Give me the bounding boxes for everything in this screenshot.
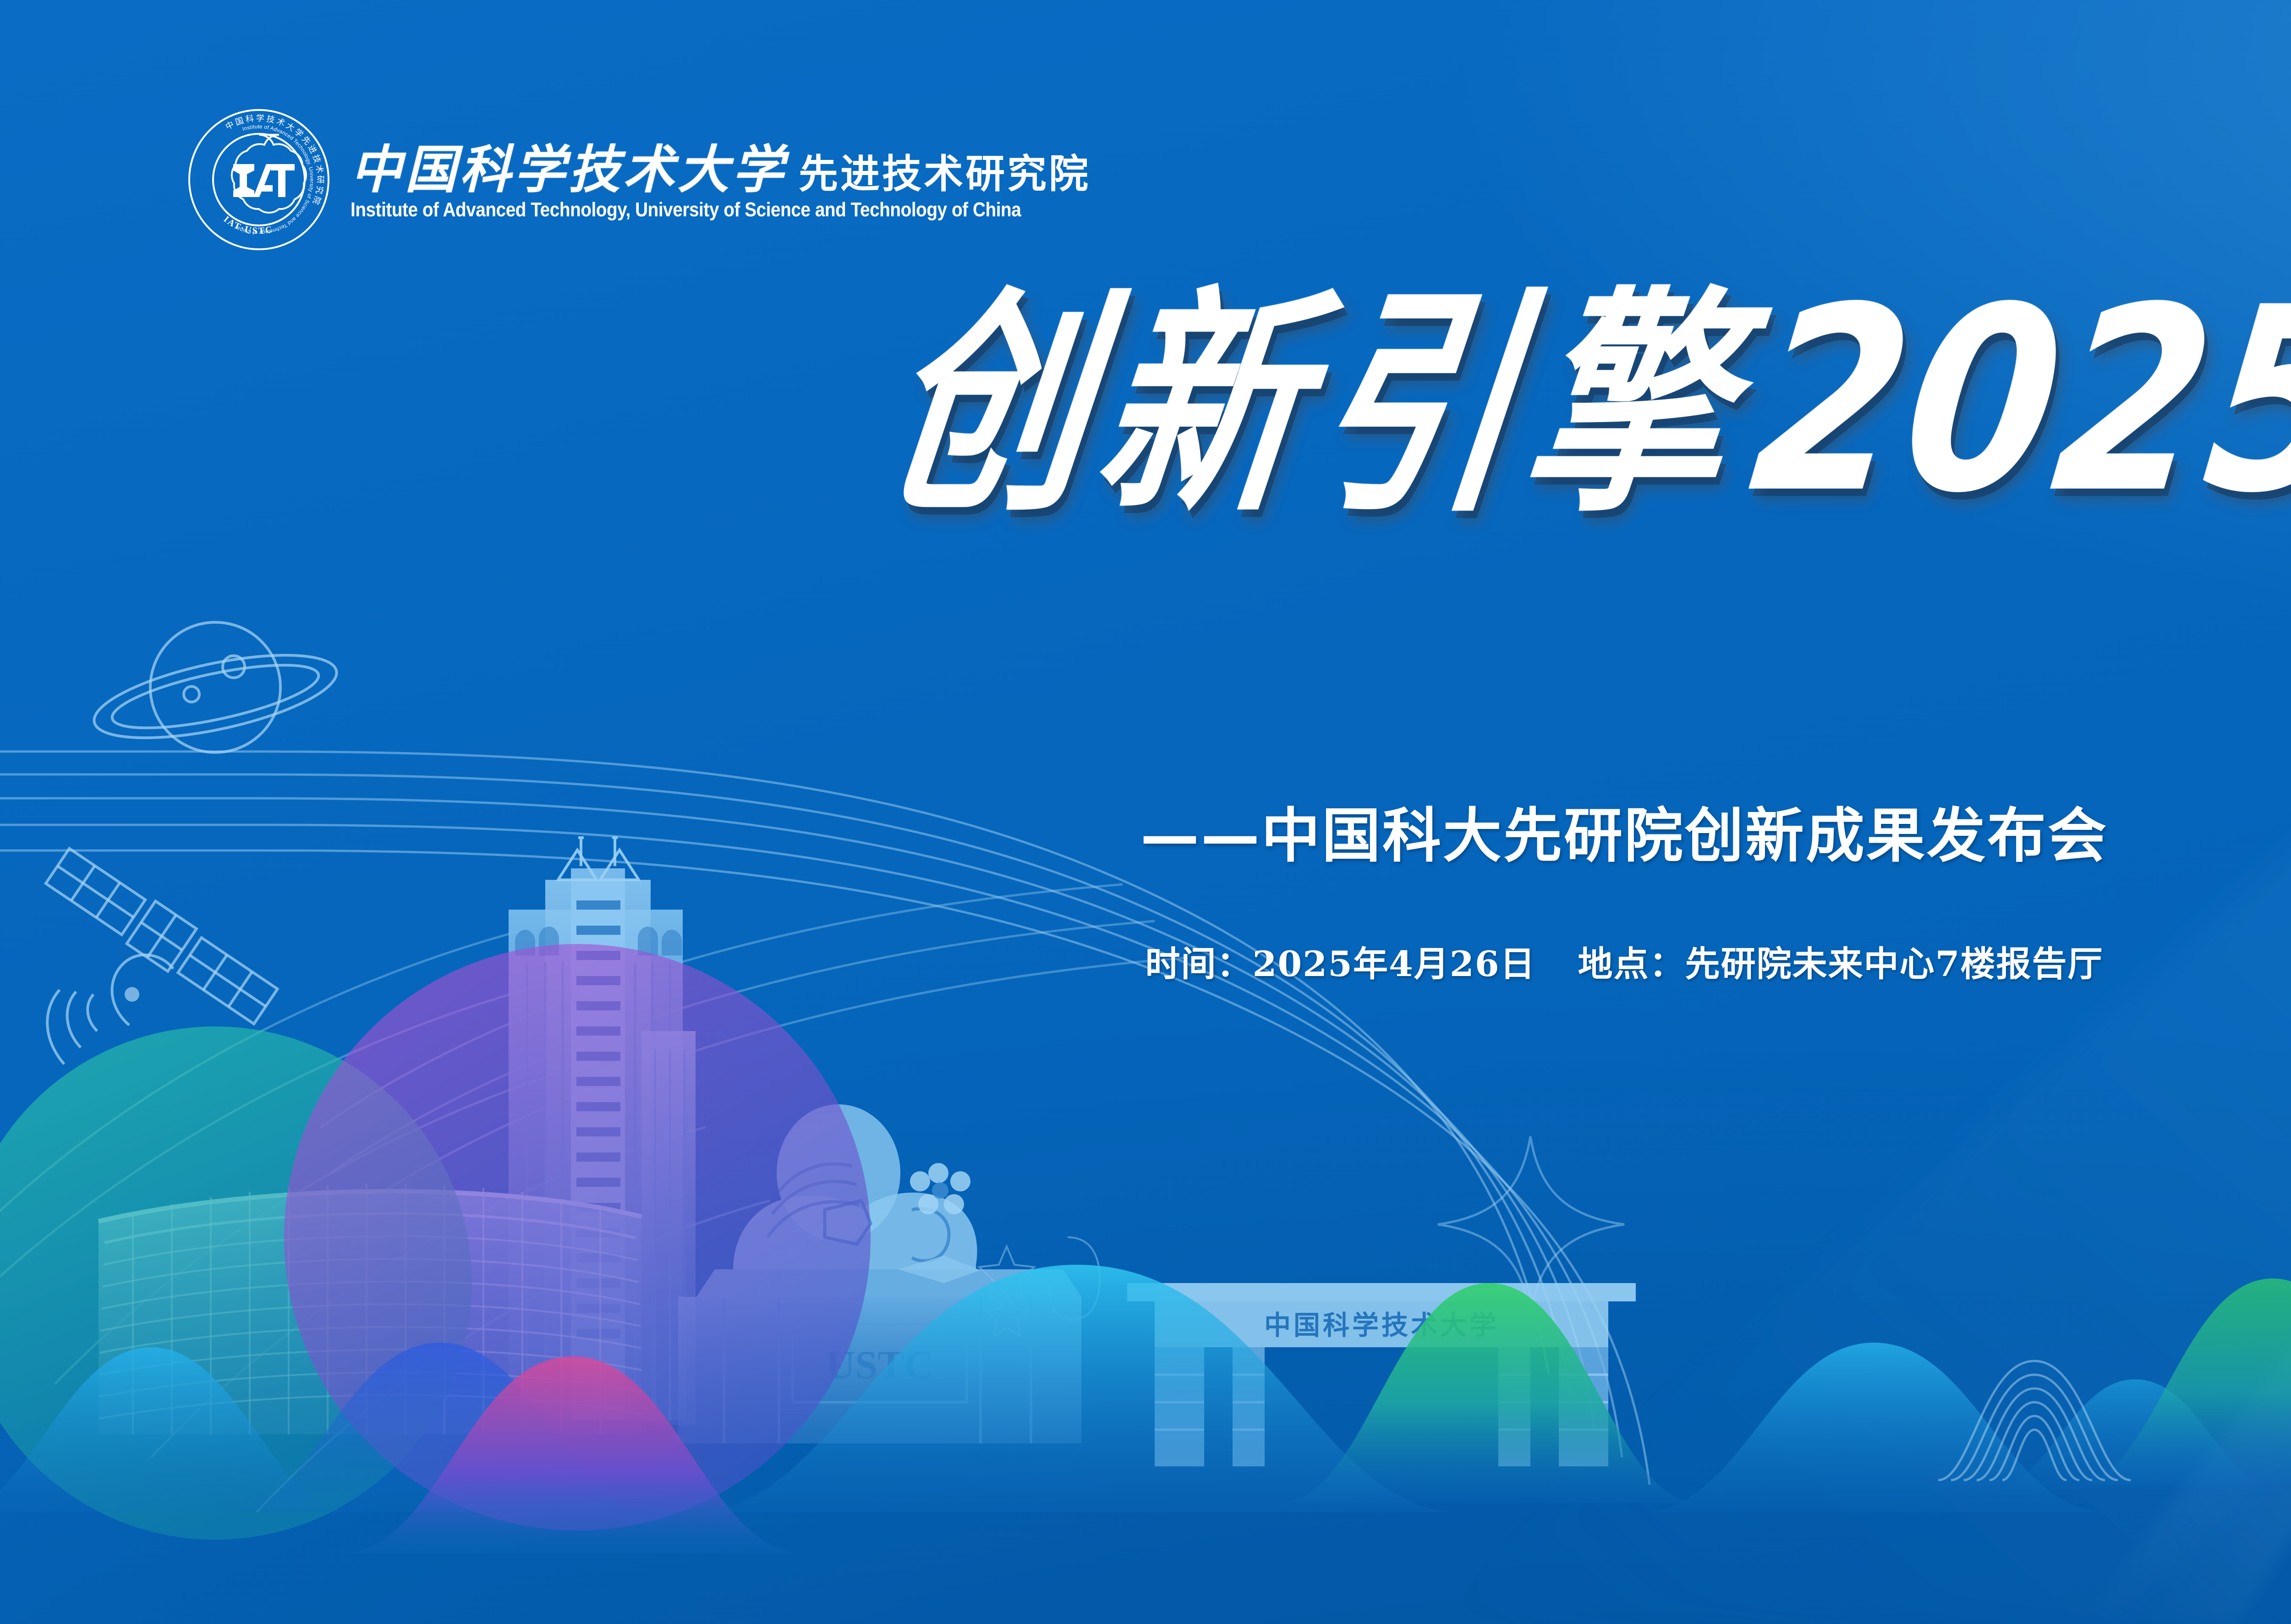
org-name-cn: 中国科学技术大学 [351,144,787,196]
event-time-value: 2025年4月26日 [1252,936,1535,986]
ustc-iat-seal-emblem: Institute of Advanced Technology, Univer… [186,106,332,253]
poster-canvas: USTC 中国科学技术大 [0,0,2291,1624]
org-logo: Institute of Advanced Technology, Univer… [186,106,1113,253]
org-name-en: Institute of Advanced Technology, Univer… [351,198,1021,221]
subtitle-text: ——中国科大先研院创新成果发布会 [1140,804,2108,869]
event-meta-block: 时间：2025年4月26日地点：先研院未来中心7楼报告厅 [0,936,2291,986]
org-name-cn-suffix: 先进技术研究院 [799,154,1091,194]
event-place-value: 先研院未来中心7楼报告厅 [1685,936,2104,986]
main-title-cn: 创新引擎 [873,285,1757,523]
org-name-cn-row: 中国科学技术大学 先进技术研究院 [351,144,1113,196]
event-time-label: 时间： [1145,936,1252,986]
iat-monogram [233,164,295,197]
org-logo-text: 中国科学技术大学 先进技术研究院 Institute of Advanced T… [351,138,1113,221]
main-title-block: 创新引擎2025 [0,293,2291,509]
main-title-year: 2025 [1742,274,2291,528]
event-place-label: 地点： [1578,936,1685,986]
subtitle-block: ——中国科大先研院创新成果发布会 [0,804,2291,869]
hill-green [1278,1283,1700,1503]
